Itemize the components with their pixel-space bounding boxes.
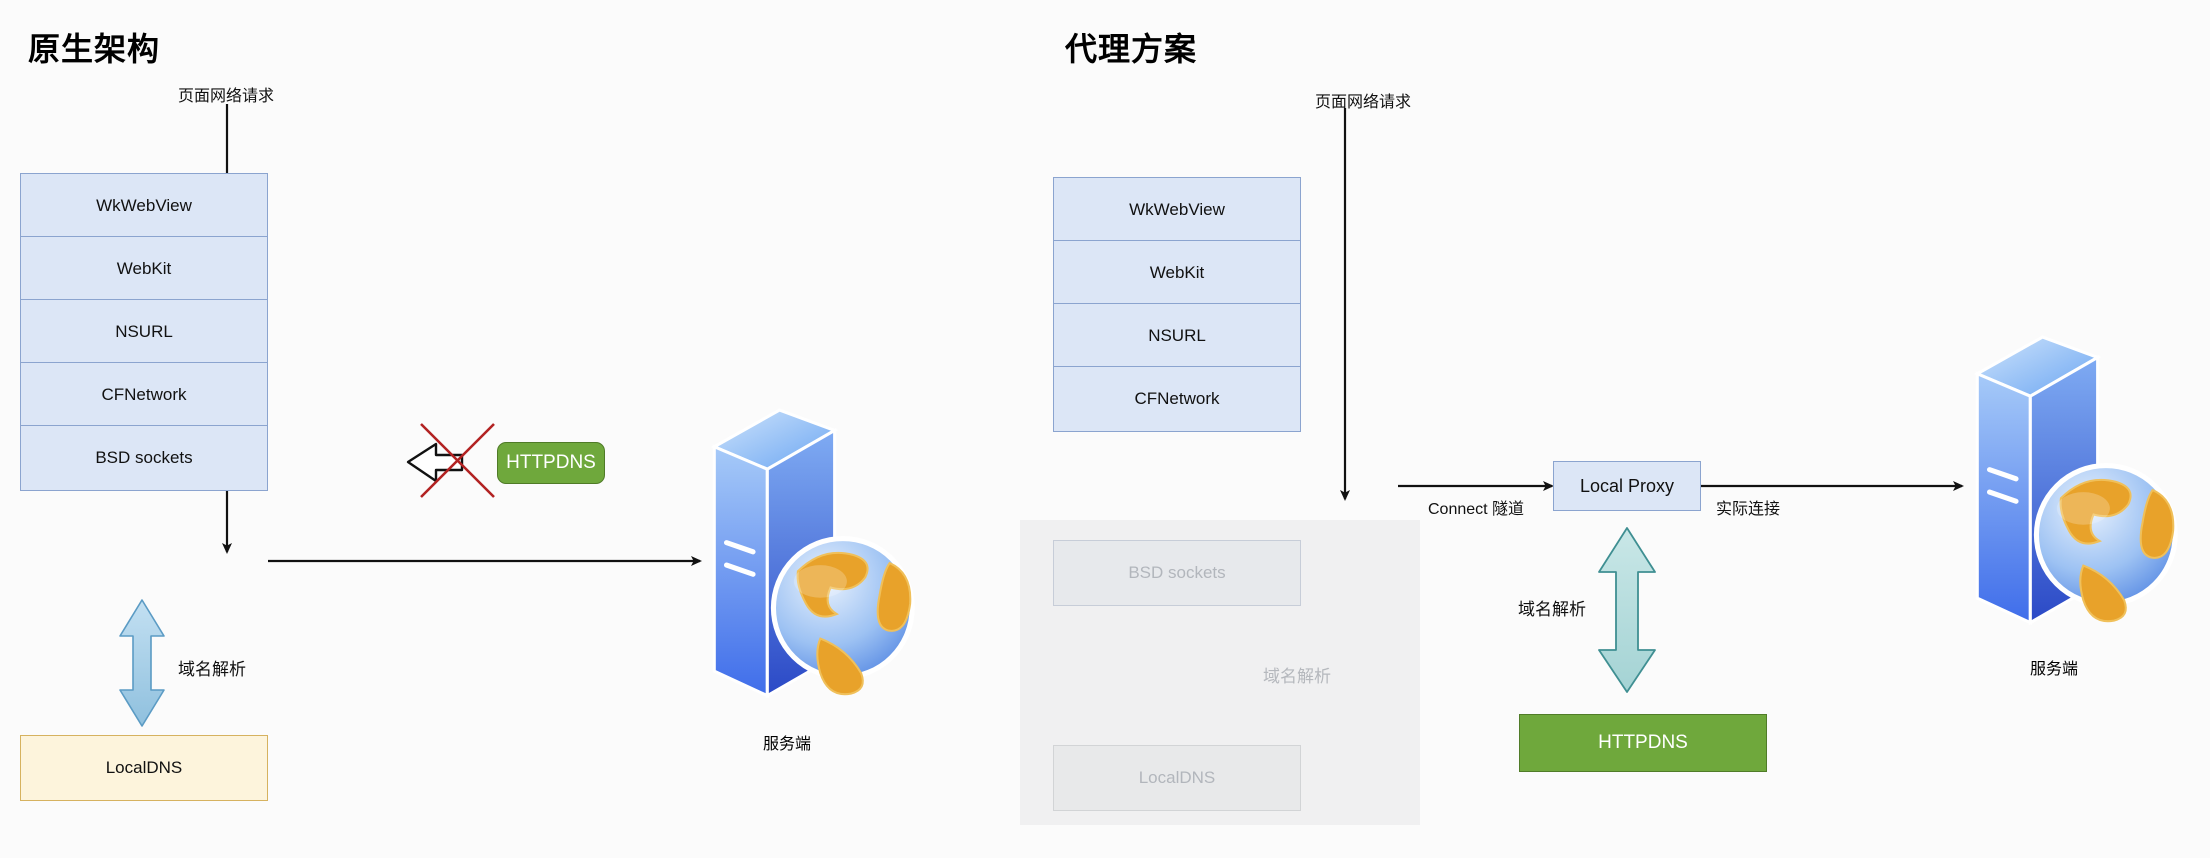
native-dns-resolve-label: 域名解析 (178, 655, 246, 680)
proxy-stack-box-wkwebview[interactable]: WkWebView (1053, 177, 1301, 243)
proxy-local-proxy-box[interactable]: Local Proxy (1553, 461, 1701, 511)
native-httpdns-pill[interactable]: HTTPDNS (497, 442, 605, 484)
proxy-stack-box-webkit[interactable]: WebKit (1053, 240, 1301, 306)
panel-native-architecture: 原生架构 页面网络请求 WkWebView WebKit NSURL CFNet… (0, 0, 1030, 858)
proxy-localdns-box[interactable]: LocalDNS (1053, 745, 1301, 811)
proxy-httpdns-box[interactable]: HTTPDNS (1519, 714, 1767, 772)
page-title-proxy: 代理方案 (1065, 24, 1197, 70)
proxy-dns-resolve-label: 域名解析 (1518, 595, 1586, 620)
native-localdns-box[interactable]: LocalDNS (20, 735, 268, 801)
native-stack-box-wkwebview[interactable]: WkWebView (20, 173, 268, 239)
proxy-stack-box-bsd-sockets[interactable]: BSD sockets (1053, 540, 1301, 606)
native-stack-box-webkit[interactable]: WebKit (20, 236, 268, 302)
proxy-stack-box-nsurl[interactable]: NSURL (1053, 303, 1301, 369)
native-stack-box-nsurl[interactable]: NSURL (20, 299, 268, 365)
proxy-server-label: 服务端 (2030, 655, 2078, 679)
native-server-label: 服务端 (763, 730, 811, 754)
native-stack-box-cfnetwork[interactable]: CFNetwork (20, 362, 268, 428)
proxy-real-connection-label: 实际连接 (1716, 495, 1780, 519)
native-request-label: 页面网络请求 (178, 82, 274, 106)
native-stack-box-bsd-sockets[interactable]: BSD sockets (20, 425, 268, 491)
proxy-request-label: 页面网络请求 (1315, 88, 1411, 112)
proxy-dim-dns-resolve-label: 域名解析 (1263, 662, 1331, 687)
proxy-tunnel-label: Connect 隧道 (1428, 495, 1524, 519)
page-title-native: 原生架构 (28, 24, 160, 70)
proxy-stack-box-cfnetwork[interactable]: CFNetwork (1053, 366, 1301, 432)
